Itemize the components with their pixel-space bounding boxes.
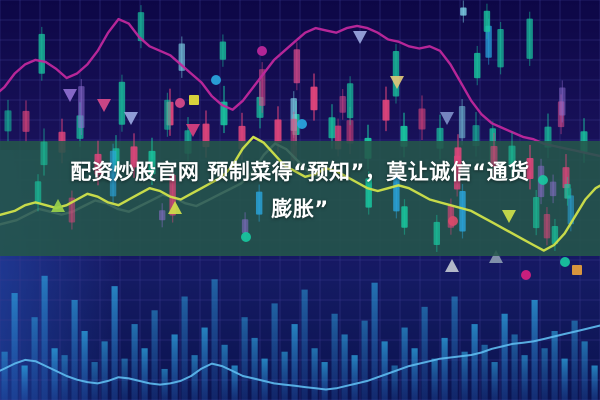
- stock-chart-banner: 配资炒股官网 预制菜得“预知”，莫让诚信“通货 膨胀”: [0, 0, 600, 400]
- chart-canvas: [0, 0, 600, 400]
